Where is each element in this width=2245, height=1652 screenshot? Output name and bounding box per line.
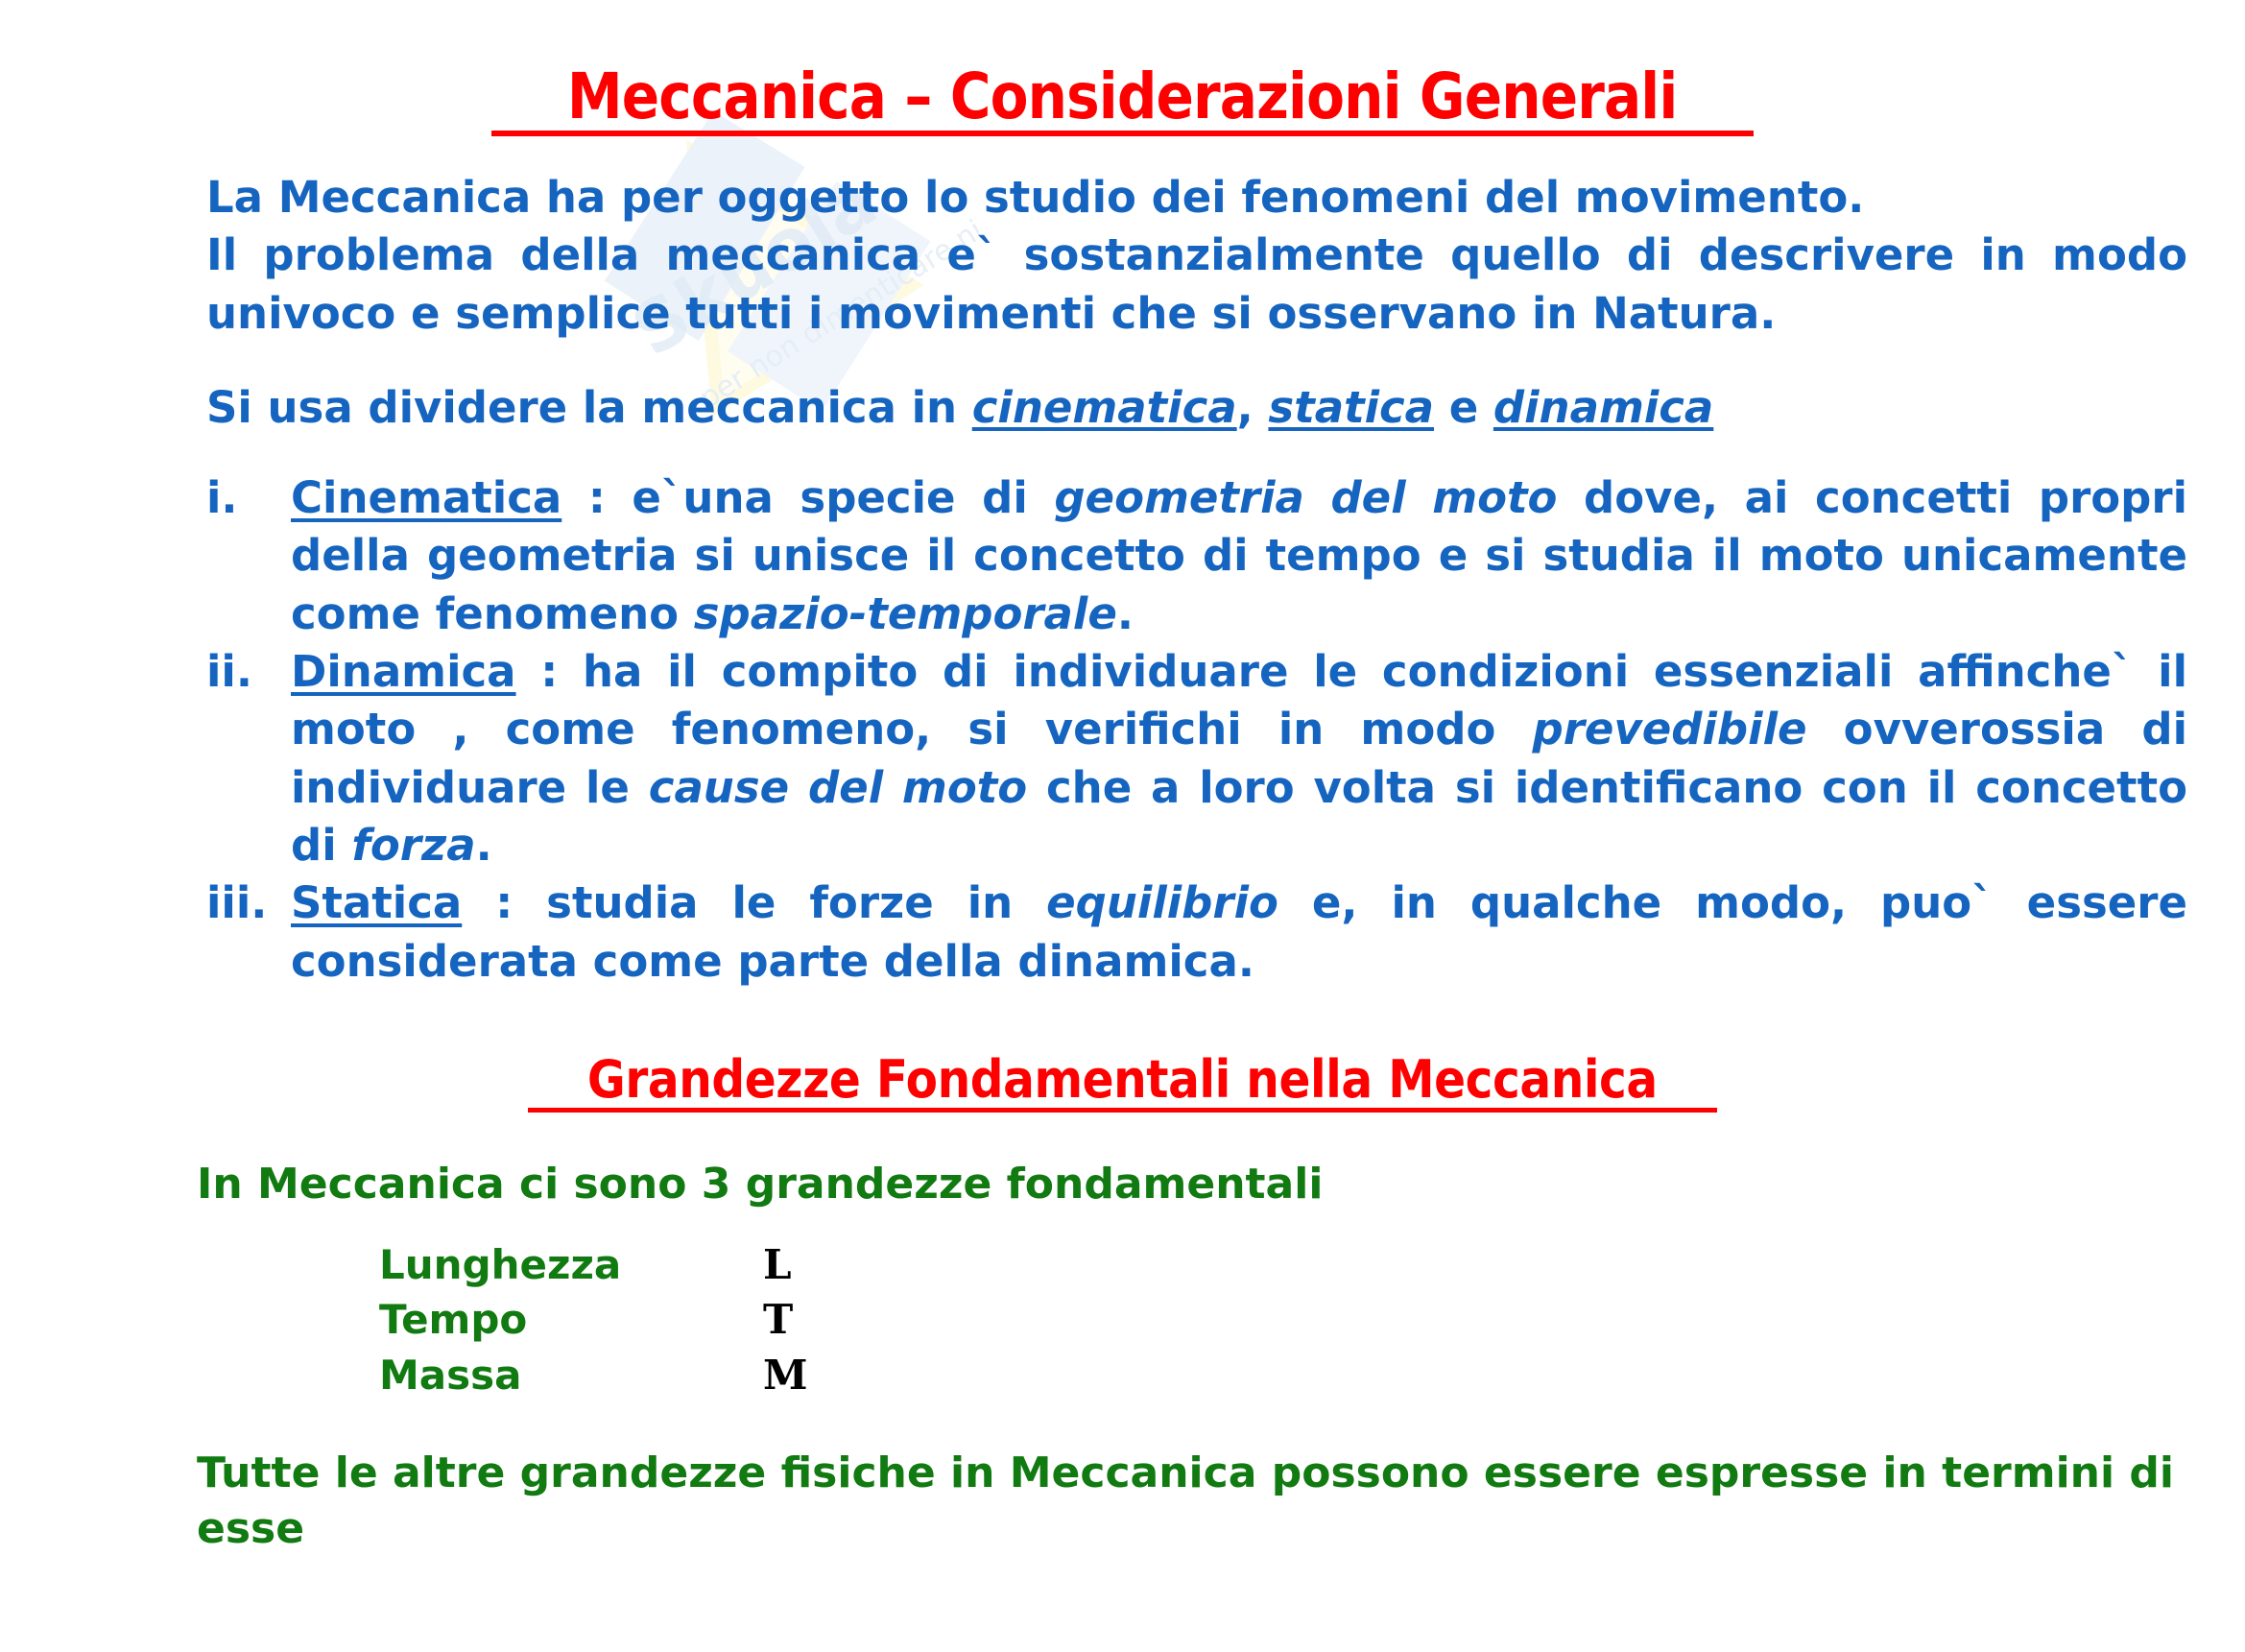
intro-line-2: Il problema della meccanica e` sostanzia…: [206, 227, 2187, 343]
definitions-list: i. Cinematica : e`una specie di geometri…: [206, 469, 2187, 991]
italic-spazio-temporale: spazio-temporale: [694, 588, 1117, 639]
fundamental-quantities-table: Lunghezza L Tempo T Massa M: [379, 1241, 808, 1407]
intro-paragraph: La Meccanica ha per oggetto lo studio de…: [206, 169, 2187, 343]
divide-prefix: Si usa dividere la meccanica in: [206, 382, 972, 433]
list-text-a: : studia le forze in: [462, 877, 1046, 928]
italic-cause-del-moto: cause del moto: [649, 762, 1027, 813]
italic-forza: forza: [351, 820, 475, 871]
divide-sep-2: e: [1434, 382, 1493, 433]
table-row: Lunghezza L: [379, 1241, 808, 1297]
italic-prevedibile: prevedibile: [1533, 704, 1807, 754]
body-blue-section: La Meccanica ha per oggetto lo studio de…: [0, 169, 2245, 991]
list-item-dinamica: ii. Dinamica : ha il compito di individu…: [206, 643, 2187, 874]
quantity-symbol: M: [763, 1352, 808, 1407]
page-title-wrapper: Meccanica – Considerazioni Generali: [0, 65, 2245, 136]
list-text-c: .: [1117, 588, 1134, 639]
quantity-symbol: T: [763, 1296, 808, 1352]
list-text-a: : e`una specie di: [561, 472, 1054, 523]
section-heading-underline: Grandezze Fondamentali nella Meccanica: [528, 1054, 1717, 1113]
fundamentals-outro-section: Tutte le altre grandezze fisiche in Mecc…: [0, 1446, 2245, 1557]
list-marker-i: i.: [206, 469, 279, 527]
page-title-underline: Meccanica – Considerazioni Generali: [491, 65, 1753, 136]
divide-paragraph: Si usa dividere la meccanica in cinemati…: [206, 379, 2187, 437]
list-text-d: .: [476, 820, 492, 871]
italic-equilibrio: equilibrio: [1046, 877, 1278, 928]
list-marker-ii: ii.: [206, 643, 279, 701]
italic-geometria-del-moto: geometria del moto: [1054, 472, 1557, 523]
list-term-cinematica: Cinematica: [291, 472, 561, 523]
slide-page: Meccanica – Considerazioni Generali La M…: [0, 65, 2245, 1557]
table-row: Tempo T: [379, 1296, 808, 1352]
list-item-statica: iii. Statica : studia le forze in equili…: [206, 874, 2187, 991]
quantity-name: Lunghezza: [379, 1241, 763, 1297]
list-item-cinematica: i. Cinematica : e`una specie di geometri…: [206, 469, 2187, 643]
list-item-body: Cinematica : e`una specie di geometria d…: [291, 469, 2187, 643]
fundamentals-section: In Meccanica ci sono 3 grandezze fondame…: [0, 1157, 2245, 1212]
term-dinamica: dinamica: [1493, 382, 1713, 433]
page-title: Meccanica – Considerazioni Generali: [567, 65, 1677, 129]
fundamentals-outro: Tutte le altre grandezze fisiche in Mecc…: [197, 1446, 2178, 1557]
term-cinematica: cinematica: [972, 382, 1237, 433]
list-term-statica: Statica: [291, 877, 462, 928]
list-term-dinamica: Dinamica: [291, 646, 516, 697]
quantity-symbol: L: [763, 1241, 808, 1297]
list-item-body: Statica : studia le forze in equilibrio …: [291, 874, 2187, 991]
list-marker-iii: iii.: [206, 874, 279, 932]
section-heading: Grandezze Fondamentali nella Meccanica: [587, 1054, 1658, 1106]
intro-line-1: La Meccanica ha per oggetto lo studio de…: [206, 172, 1864, 223]
table-row: Massa M: [379, 1352, 808, 1407]
list-item-body: Dinamica : ha il compito di individuare …: [291, 643, 2187, 874]
fundamentals-intro: In Meccanica ci sono 3 grandezze fondame…: [197, 1157, 2178, 1212]
quantity-name: Tempo: [379, 1296, 763, 1352]
quantity-name: Massa: [379, 1352, 763, 1407]
divide-sep-1: ,: [1237, 382, 1269, 433]
section-heading-wrapper: Grandezze Fondamentali nella Meccanica: [0, 1054, 2245, 1113]
term-statica: statica: [1268, 382, 1434, 433]
